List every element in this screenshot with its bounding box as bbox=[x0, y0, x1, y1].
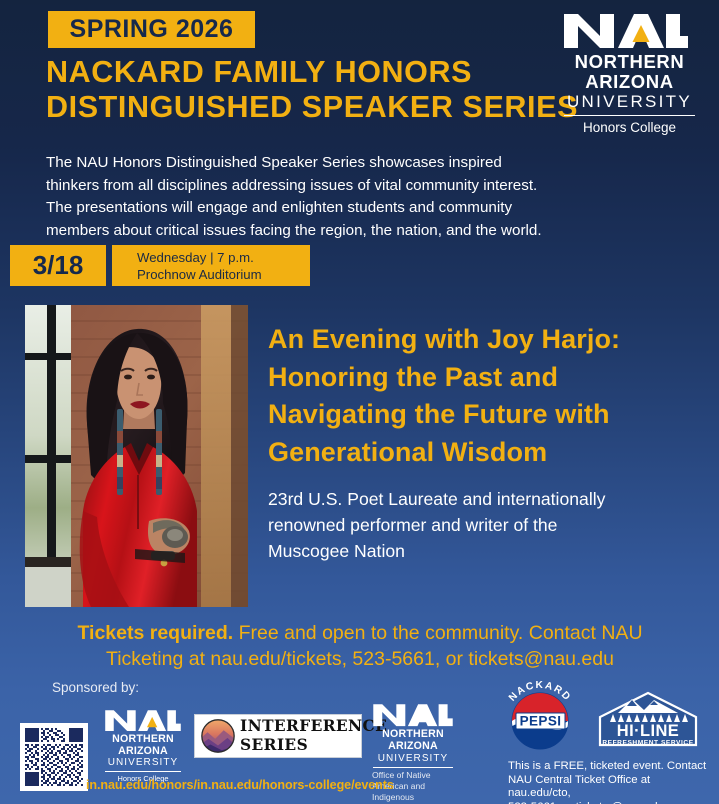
pepsi-icon: PEPSI NACKARD EST. 1943 bbox=[497, 681, 589, 759]
event-venue: Prochnow Auditorium bbox=[137, 267, 310, 284]
qr-code-icon bbox=[25, 728, 83, 786]
footer-url[interactable]: in.nau.edu/honors/in.nau.edu/honors-coll… bbox=[86, 778, 394, 792]
ticket-office-note: This is a FREE, ticketed event. Contact … bbox=[508, 760, 716, 804]
speaker-portrait-image bbox=[25, 305, 248, 607]
nau-logo-lines: NORTHERN ARIZONA UNIVERSITY Office of Na… bbox=[372, 729, 454, 804]
qr-code[interactable] bbox=[20, 723, 88, 791]
interference-series-wordmark: INTERFERENCE SERIES bbox=[240, 717, 387, 755]
nau-logo-lines: NORTHERN ARIZONA UNIVERSITY Honors Colle… bbox=[562, 52, 697, 135]
nackard-pepsi-logo: PEPSI NACKARD EST. 1943 bbox=[497, 681, 589, 759]
divider bbox=[564, 115, 695, 116]
nau-wordmark-icon bbox=[562, 12, 690, 50]
interference-series-logo: INTERFERENCE SERIES bbox=[194, 714, 362, 758]
tickets-notice: Tickets required. Free and open to the c… bbox=[40, 620, 680, 672]
term-badge: SPRING 2026 bbox=[48, 11, 255, 48]
divider bbox=[373, 767, 453, 768]
description-line-1: The NAU Honors Distinguished Speaker Ser… bbox=[46, 152, 622, 175]
nau-line-arizona: ARIZONA bbox=[562, 72, 697, 92]
speaker-series-poster: SPRING 2026 NACKARD FAMILY HONORS DISTIN… bbox=[0, 0, 719, 804]
tickets-bold-lead: Tickets required. bbox=[77, 622, 233, 644]
event-title: An Evening with Joy Harjo: Honoring the … bbox=[268, 321, 712, 471]
event-time-venue-box: Wednesday | 7 p.m. Prochnow Auditorium bbox=[112, 245, 310, 286]
tickets-line-1-rest: Free and open to the community. Contact … bbox=[233, 622, 642, 644]
nau-line-university: UNIVERSITY bbox=[372, 753, 454, 765]
nau-wordmark-icon bbox=[104, 709, 182, 732]
nau-honors-college-logo-footer: NORTHERN ARIZONA UNIVERSITY Honors Colle… bbox=[104, 709, 182, 783]
nau-line-northern: NORTHERN bbox=[562, 52, 697, 72]
event-date: 3/18 bbox=[33, 250, 84, 281]
divider bbox=[105, 771, 181, 772]
sponsored-label: Sponsored by: bbox=[52, 680, 139, 695]
description-line-3: The presentations will engage and enligh… bbox=[46, 197, 622, 220]
hi-line-icon: HI·LINE REFRESHMENT SERVICE bbox=[594, 687, 702, 751]
tickets-line-2: Ticketing at nau.edu/tickets, 523-5661, … bbox=[40, 646, 680, 672]
event-subtitle-line-1: 23rd U.S. Poet Laureate and internationa… bbox=[268, 486, 708, 512]
nau-line-arizona: ARIZONA bbox=[372, 741, 454, 753]
ticket-note-line-1: This is a FREE, ticketed event. Contact bbox=[508, 760, 716, 774]
event-title-line-3: Navigating the Future with bbox=[268, 396, 712, 434]
ticket-note-line-2: NAU Central Ticket Office at nau.edu/cto… bbox=[508, 774, 716, 801]
nau-wordmark-icon bbox=[372, 703, 454, 727]
series-title: NACKARD FAMILY HONORS DISTINGUISHED SPEA… bbox=[46, 55, 576, 125]
nau-unit-label: Honors College bbox=[562, 120, 697, 135]
mountain-circle-icon bbox=[199, 717, 237, 755]
event-title-line-2: Honoring the Past and bbox=[268, 359, 712, 397]
description-line-4: members about critical issues facing the… bbox=[46, 220, 622, 243]
event-subtitle: 23rd U.S. Poet Laureate and internationa… bbox=[268, 486, 708, 564]
interference-line-2: SERIES bbox=[240, 736, 387, 755]
speaker-photo bbox=[25, 305, 248, 607]
nau-line-university: UNIVERSITY bbox=[104, 757, 182, 769]
series-title-line-2: DISTINGUISHED SPEAKER SERIES bbox=[46, 90, 576, 125]
event-date-badge: 3/18 bbox=[10, 245, 106, 286]
description-line-2: thinkers from all disciplines addressing… bbox=[46, 175, 622, 198]
svg-text:REFRESHMENT SERVICE: REFRESHMENT SERVICE bbox=[602, 740, 693, 747]
event-subtitle-line-2: renowned performer and writer of the bbox=[268, 512, 708, 538]
tickets-line-1: Tickets required. Free and open to the c… bbox=[40, 620, 680, 646]
series-title-line-1: NACKARD FAMILY HONORS bbox=[46, 55, 576, 90]
nau-line-arizona: ARIZONA bbox=[104, 746, 182, 758]
nau-logo-lines: NORTHERN ARIZONA UNIVERSITY Honors Colle… bbox=[104, 734, 182, 783]
nau-line-northern: NORTHERN bbox=[104, 734, 182, 746]
nau-honors-college-logo: NORTHERN ARIZONA UNIVERSITY Honors Colle… bbox=[562, 12, 697, 135]
series-description: The NAU Honors Distinguished Speaker Ser… bbox=[46, 152, 622, 242]
svg-text:PEPSI: PEPSI bbox=[520, 713, 562, 728]
event-title-line-1: An Evening with Joy Harjo: bbox=[268, 321, 712, 359]
hi-line-refreshment-service-logo: HI·LINE REFRESHMENT SERVICE bbox=[594, 687, 702, 751]
event-day-time: Wednesday | 7 p.m. bbox=[137, 250, 310, 267]
term-badge-label: SPRING 2026 bbox=[70, 15, 234, 44]
event-subtitle-line-3: Muscogee Nation bbox=[268, 538, 708, 564]
nau-line-university: UNIVERSITY bbox=[562, 92, 697, 112]
interference-line-1: INTERFERENCE bbox=[240, 717, 387, 736]
event-title-line-4: Generational Wisdom bbox=[268, 434, 712, 472]
